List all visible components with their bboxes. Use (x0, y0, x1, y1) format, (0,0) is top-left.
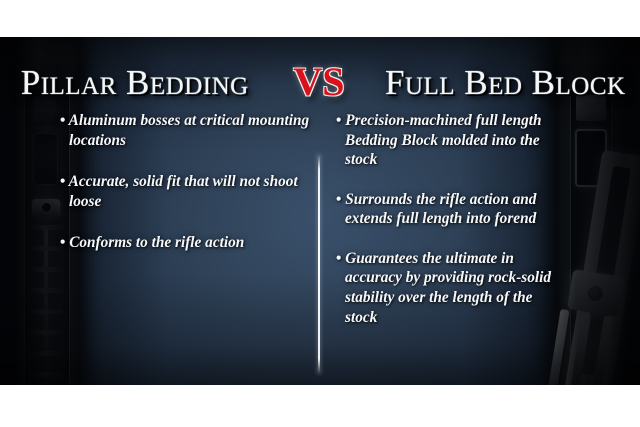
list-item-text: Aluminum bosses at critical mounting loc… (69, 112, 310, 149)
comparison-poster: Pillar Bedding VS Full Bed Block • Alumi… (0, 0, 640, 427)
bullet-marker-icon: • (336, 191, 341, 208)
bullet-marker-icon: • (336, 250, 341, 267)
list-item-text: Precision-machined full length Bedding B… (345, 112, 542, 168)
list-item: • Aluminum bosses at critical mounting l… (60, 111, 310, 150)
list-item-text: Accurate, solid fit that will not shoot … (69, 173, 298, 210)
list-item-text: Surrounds the rifle action and extends f… (345, 191, 536, 228)
list-item: • Surrounds the rifle action and extends… (336, 190, 568, 229)
list-item: • Conforms to the rifle action (60, 233, 310, 253)
list-item: • Guarantees the ultimate in accuracy by… (336, 249, 568, 327)
bullet-list-right: • Precision-machined full length Bedding… (336, 111, 568, 327)
bullet-marker-icon: • (336, 112, 341, 129)
poster-stage: Pillar Bedding VS Full Bed Block • Alumi… (0, 37, 640, 385)
comparison-columns: • Aluminum bosses at critical mounting l… (0, 111, 640, 385)
title-versus: VS (271, 62, 366, 102)
list-item-text: Conforms to the rifle action (69, 234, 244, 251)
column-full-bed-block: • Precision-machined full length Bedding… (336, 111, 568, 347)
column-pillar-bedding: • Aluminum bosses at critical mounting l… (60, 111, 310, 275)
bullet-marker-icon: • (60, 112, 65, 129)
bullet-marker-icon: • (60, 173, 65, 190)
list-item-text: Guarantees the ultimate in accuracy by p… (345, 250, 551, 326)
list-item: • Accurate, solid fit that will not shoo… (60, 172, 310, 211)
bullet-marker-icon: • (60, 234, 65, 251)
bullet-list-left: • Aluminum bosses at critical mounting l… (60, 111, 310, 253)
list-item: • Precision-machined full length Bedding… (336, 111, 568, 170)
column-divider (318, 154, 320, 374)
